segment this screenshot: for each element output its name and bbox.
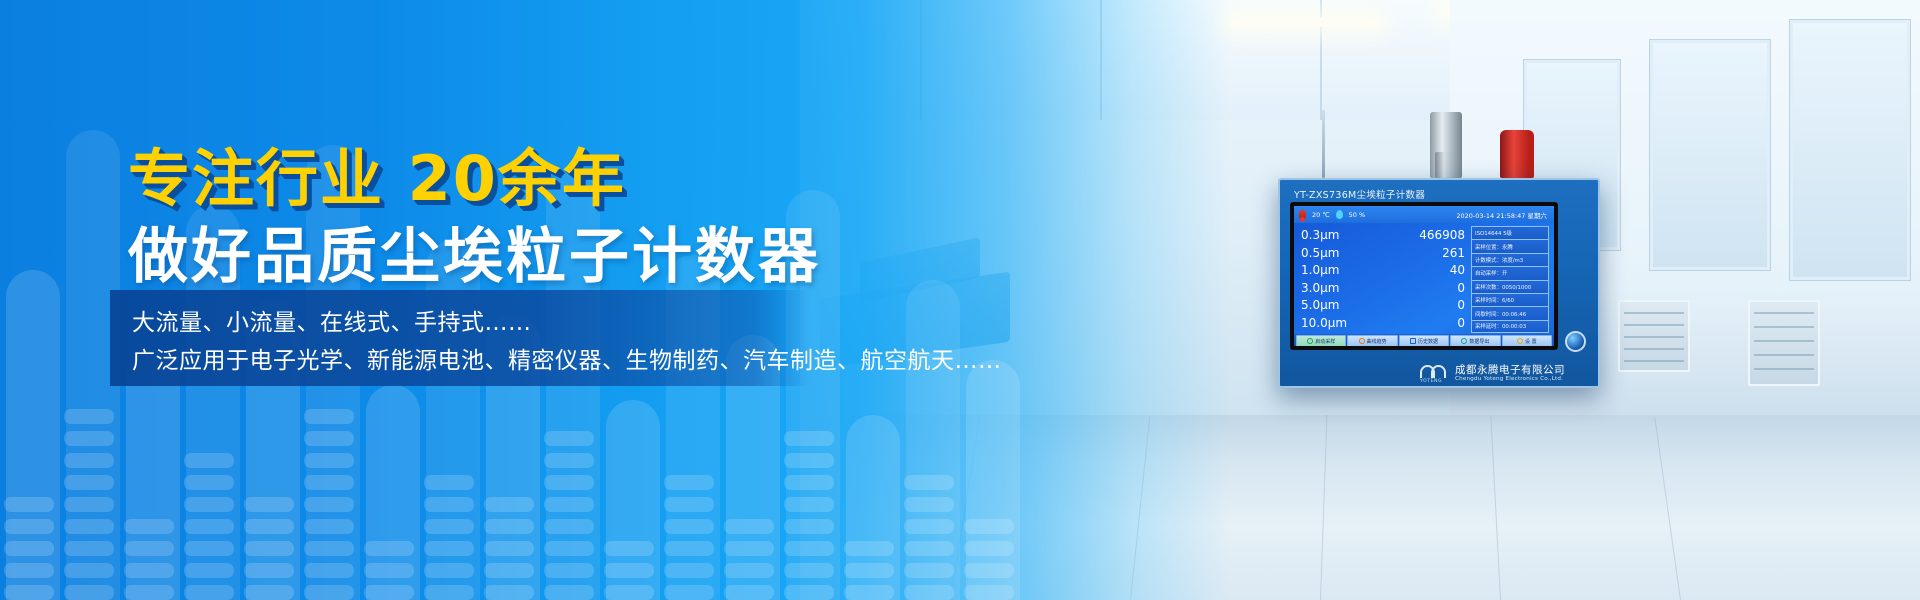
equalizer-segment bbox=[184, 585, 234, 600]
equalizer-segment bbox=[904, 563, 954, 578]
equalizer-segment bbox=[184, 519, 234, 534]
wall-vent bbox=[1618, 300, 1690, 372]
channel-size: 10.0μm bbox=[1301, 315, 1347, 333]
channel-row: 5.0μm 0 bbox=[1301, 297, 1465, 315]
equalizer-segment bbox=[724, 541, 774, 556]
subtitle-band: 大流量、小流量、在线式、手持式…… 广泛应用于电子光学、新能源电池、精密仪器、生… bbox=[110, 290, 810, 386]
equalizer-segment bbox=[64, 409, 114, 424]
equalizer-segment bbox=[484, 541, 534, 556]
equalizer-segment bbox=[844, 563, 894, 578]
equalizer-segment bbox=[964, 585, 1014, 600]
screen-body: 0.3μm 466908 0.5μm 261 1.0μm 40 3.0μm bbox=[1294, 223, 1554, 334]
channel-row: 10.0μm 0 bbox=[1301, 315, 1465, 333]
param-row: 间歇时间：00:06:46 bbox=[1471, 306, 1549, 319]
water-drop-icon bbox=[1336, 210, 1343, 219]
equalizer-segment bbox=[784, 585, 834, 600]
wall-vent bbox=[1748, 300, 1820, 386]
promo-banner: 专注行业 20余年 做好品质尘埃粒子计数器 大流量、小流量、在线式、手持式…… … bbox=[0, 0, 1920, 600]
channel-size: 0.3μm bbox=[1301, 227, 1339, 245]
equalizer-segment bbox=[424, 475, 474, 490]
equalizer-segment bbox=[4, 519, 54, 534]
company-name-cn: 成都永腾电子有限公司 bbox=[1455, 364, 1565, 376]
equalizer-segment bbox=[424, 519, 474, 534]
device-antenna bbox=[1322, 110, 1325, 178]
device-alarm-beacon bbox=[1500, 130, 1534, 178]
equalizer-segment bbox=[304, 497, 354, 512]
param-row: 采样位置：永腾 bbox=[1471, 239, 1549, 252]
channel-size: 0.5μm bbox=[1301, 245, 1339, 263]
toolbar-label: 曲线趋势 bbox=[1367, 338, 1387, 345]
equalizer-segment bbox=[424, 585, 474, 600]
chart-line-icon bbox=[1359, 338, 1365, 344]
play-circle-icon bbox=[1307, 338, 1313, 344]
toolbar-button-trend-curve[interactable]: 曲线趋势 bbox=[1347, 335, 1397, 346]
equalizer-segment bbox=[664, 585, 714, 600]
equalizer-segment bbox=[244, 585, 294, 600]
toolbar-button-settings[interactable]: 设 置 bbox=[1502, 335, 1552, 346]
toolbar-label: 设 置 bbox=[1525, 338, 1537, 345]
subtitle-line-2: 广泛应用于电子光学、新能源电池、精密仪器、生物制药、汽车制造、航空航天…… bbox=[132, 342, 810, 380]
equalizer-segment bbox=[964, 541, 1014, 556]
equalizer-segment bbox=[784, 431, 834, 446]
equalizer-segment bbox=[64, 497, 114, 512]
humidity-value: 50 % bbox=[1349, 211, 1366, 219]
equalizer-segment bbox=[964, 563, 1014, 578]
company-name-en: Chengdu Yoteng Electronics Co.,Ltd. bbox=[1455, 376, 1565, 382]
equalizer-segment bbox=[544, 497, 594, 512]
equalizer-segment bbox=[304, 431, 354, 446]
equalizer-segment bbox=[784, 519, 834, 534]
equalizer-segment bbox=[364, 541, 414, 556]
channel-count: 40 bbox=[1450, 262, 1465, 280]
equalizer-segment bbox=[664, 475, 714, 490]
wall-window bbox=[1650, 40, 1770, 270]
equalizer-segment bbox=[184, 497, 234, 512]
equalizer-segment bbox=[184, 541, 234, 556]
equalizer-segment bbox=[424, 497, 474, 512]
toolbar-label: 数据导出 bbox=[1469, 338, 1489, 345]
datetime-display: 2020-03-14 21:58:47 星期六 bbox=[1456, 210, 1549, 220]
equalizer-segment bbox=[604, 563, 654, 578]
equalizer-segment bbox=[544, 541, 594, 556]
equalizer-segment bbox=[544, 519, 594, 534]
equalizer-segment bbox=[304, 563, 354, 578]
brand-logo: YOTENG 成都永腾电子有限公司 Chengdu Yoteng Electro… bbox=[1420, 364, 1565, 382]
equalizer-segment bbox=[304, 475, 354, 490]
equalizer-segment bbox=[784, 453, 834, 468]
toolbar-button-start-sampling[interactable]: 启动采样 bbox=[1296, 335, 1346, 346]
channel-size: 5.0μm bbox=[1301, 297, 1339, 315]
equalizer-segment bbox=[364, 563, 414, 578]
equalizer-segment bbox=[184, 475, 234, 490]
equalizer-segment bbox=[484, 497, 534, 512]
channel-count: 0 bbox=[1457, 297, 1465, 315]
equalizer-segment bbox=[964, 519, 1014, 534]
toolbar-label: 历史数据 bbox=[1418, 338, 1438, 345]
equalizer-segment bbox=[604, 585, 654, 600]
thermometer-icon bbox=[1299, 210, 1306, 220]
headline-secondary: 做好品质尘埃粒子计数器 bbox=[128, 208, 821, 295]
equalizer-segment bbox=[64, 431, 114, 446]
equalizer-segment bbox=[544, 453, 594, 468]
equalizer-segment bbox=[304, 409, 354, 424]
equalizer-segment bbox=[304, 519, 354, 534]
channel-row: 0.3μm 466908 bbox=[1301, 227, 1465, 245]
device-screen: 20 ℃ 50 % 2020-03-14 21:58:47 星期六 0.3μm … bbox=[1294, 206, 1554, 346]
equalizer-segment bbox=[424, 563, 474, 578]
equalizer-segment bbox=[844, 585, 894, 600]
channel-count: 0 bbox=[1457, 315, 1465, 333]
equalizer-segment bbox=[844, 541, 894, 556]
equalizer-segment bbox=[64, 475, 114, 490]
equalizer-segment bbox=[244, 541, 294, 556]
equalizer-segment bbox=[244, 497, 294, 512]
equalizer-segment bbox=[64, 563, 114, 578]
equalizer-segment bbox=[784, 541, 834, 556]
device-model-label: YT-ZXS736M尘埃粒子计数器 bbox=[1294, 187, 1425, 201]
equalizer-segment bbox=[4, 585, 54, 600]
equalizer-segment bbox=[544, 563, 594, 578]
equalizer-segment bbox=[484, 585, 534, 600]
equalizer-segment bbox=[904, 585, 954, 600]
channel-row: 3.0μm 0 bbox=[1301, 280, 1465, 298]
equalizer-segment bbox=[124, 585, 174, 600]
param-row: ISO14644 5级 bbox=[1471, 226, 1549, 239]
equalizer-segment bbox=[64, 585, 114, 600]
equalizer-segment bbox=[544, 431, 594, 446]
equalizer-segment bbox=[904, 541, 954, 556]
channel-size: 3.0μm bbox=[1301, 280, 1339, 298]
equalizer-segment bbox=[604, 541, 654, 556]
equalizer-segment bbox=[4, 563, 54, 578]
particle-counter-device: YT-ZXS736M尘埃粒子计数器 20 ℃ 50 % 2020-03-14 2… bbox=[1278, 178, 1600, 388]
equalizer-segment bbox=[664, 497, 714, 512]
param-row: 采样延时：00:00:03 bbox=[1471, 320, 1549, 333]
equalizer-segment bbox=[724, 519, 774, 534]
equalizer-segment bbox=[304, 453, 354, 468]
equalizer-segment bbox=[484, 563, 534, 578]
equalizer-segment bbox=[64, 453, 114, 468]
equalizer-segment bbox=[784, 475, 834, 490]
equalizer-segment bbox=[664, 541, 714, 556]
param-row: 计数模式：浓度/m3 bbox=[1471, 253, 1549, 266]
equalizer-segment bbox=[784, 563, 834, 578]
equalizer-segment bbox=[244, 563, 294, 578]
channel-count: 466908 bbox=[1419, 227, 1465, 245]
equalizer-segment bbox=[904, 475, 954, 490]
equalizer-segment bbox=[724, 585, 774, 600]
equalizer-segment bbox=[304, 585, 354, 600]
equalizer-segment bbox=[484, 519, 534, 534]
equalizer-segment bbox=[184, 453, 234, 468]
equalizer-segment bbox=[724, 563, 774, 578]
equalizer-segment bbox=[124, 541, 174, 556]
equalizer-segment bbox=[664, 519, 714, 534]
export-icon bbox=[1461, 338, 1467, 344]
device-sampling-nozzle bbox=[1430, 112, 1462, 178]
gear-icon bbox=[1517, 338, 1523, 344]
param-row: 采样时间：6/60 bbox=[1471, 293, 1549, 306]
particle-channel-list: 0.3μm 466908 0.5μm 261 1.0μm 40 3.0μm bbox=[1294, 223, 1471, 334]
equalizer-segment bbox=[124, 563, 174, 578]
equalizer-segment bbox=[124, 519, 174, 534]
equalizer-segment bbox=[4, 541, 54, 556]
equalizer-segment-grid bbox=[0, 385, 1020, 600]
equalizer-segment bbox=[64, 519, 114, 534]
channel-row: 0.5μm 261 bbox=[1301, 245, 1465, 263]
measurement-parameter-list: ISO14644 5级 采样位置：永腾 计数模式：浓度/m3 自动采样：开 采样… bbox=[1471, 223, 1552, 334]
equalizer-segment bbox=[544, 585, 594, 600]
screen-status-bar: 20 ℃ 50 % 2020-03-14 21:58:47 星期六 bbox=[1294, 206, 1554, 223]
channel-count: 261 bbox=[1442, 245, 1465, 263]
logo-wordmark: YOTENG bbox=[1420, 379, 1442, 384]
equalizer-segment bbox=[544, 475, 594, 490]
equalizer-segment bbox=[4, 497, 54, 512]
equalizer-segment bbox=[64, 541, 114, 556]
yoteng-mark-icon: YOTENG bbox=[1420, 365, 1450, 381]
param-row: 自动采样：开 bbox=[1471, 266, 1549, 279]
channel-size: 1.0μm bbox=[1301, 262, 1339, 280]
equalizer-segment bbox=[424, 541, 474, 556]
temperature-value: 20 ℃ bbox=[1312, 211, 1330, 219]
toolbar-button-data-export[interactable]: 数据导出 bbox=[1450, 335, 1500, 346]
toolbar-label: 启动采样 bbox=[1315, 338, 1335, 345]
equalizer-segment bbox=[304, 541, 354, 556]
power-knob[interactable] bbox=[1565, 331, 1586, 352]
wall-window bbox=[1790, 20, 1910, 280]
channel-row: 1.0μm 40 bbox=[1301, 262, 1465, 280]
document-icon bbox=[1410, 338, 1416, 344]
equalizer-segment bbox=[244, 519, 294, 534]
ceiling-lamp bbox=[1230, 18, 1380, 27]
equalizer-segment bbox=[904, 519, 954, 534]
equalizer-segment bbox=[364, 585, 414, 600]
equalizer-segment bbox=[664, 563, 714, 578]
equalizer-segment bbox=[904, 497, 954, 512]
toolbar-button-history-data[interactable]: 历史数据 bbox=[1399, 335, 1449, 346]
equalizer-segment bbox=[184, 563, 234, 578]
screen-toolbar: 启动采样 曲线趋势 历史数据 数据导出 bbox=[1294, 334, 1554, 346]
equalizer-segment bbox=[784, 497, 834, 512]
channel-count: 0 bbox=[1457, 280, 1465, 298]
param-row: 采样次数：0050/1000 bbox=[1471, 280, 1549, 293]
subtitle-line-1: 大流量、小流量、在线式、手持式…… bbox=[132, 304, 810, 342]
device-screen-bezel: 20 ℃ 50 % 2020-03-14 21:58:47 星期六 0.3μm … bbox=[1290, 202, 1558, 350]
headline-primary: 专注行业 20余年 bbox=[128, 128, 626, 218]
